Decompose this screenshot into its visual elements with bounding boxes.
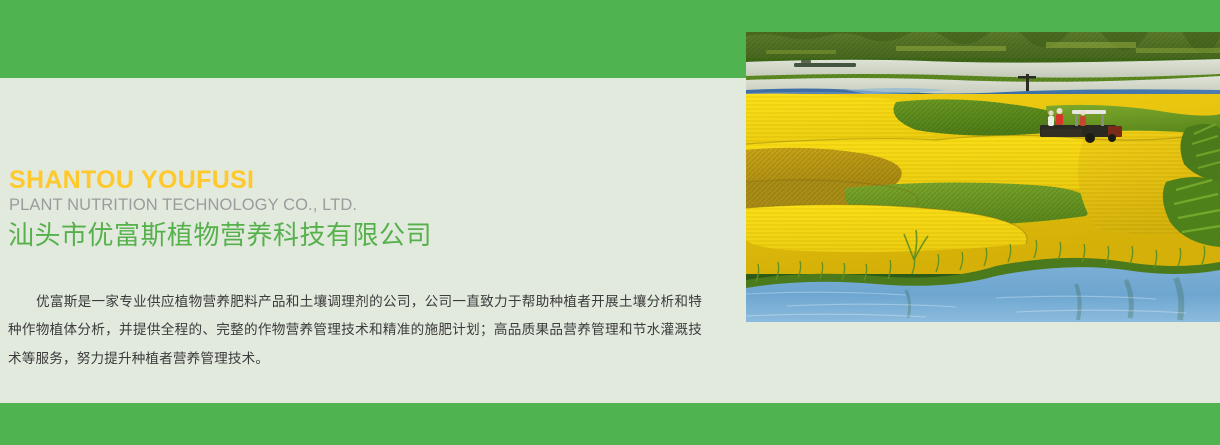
page-root: SHANTOU YOUFUSI PLANT NUTRITION TECHNOLO… bbox=[0, 0, 1220, 445]
brand-name-english: SHANTOU YOUFUSI bbox=[9, 168, 254, 193]
company-description-paragraph: 优富斯是一家专业供应植物营养肥料产品和土壤调理剂的公司，公司一直致力于帮助种植者… bbox=[8, 288, 702, 374]
bottom-green-band bbox=[0, 403, 1220, 445]
brand-name-chinese: 汕头市优富斯植物营养科技有限公司 bbox=[8, 221, 432, 251]
company-intro-column: SHANTOU YOUFUSI PLANT NUTRITION TECHNOLO… bbox=[0, 78, 745, 403]
brand-tagline-english: PLANT NUTRITION TECHNOLOGY CO., LTD. bbox=[9, 197, 357, 214]
farm-field-illustration bbox=[746, 32, 1220, 322]
farm-field-photo bbox=[746, 32, 1220, 322]
